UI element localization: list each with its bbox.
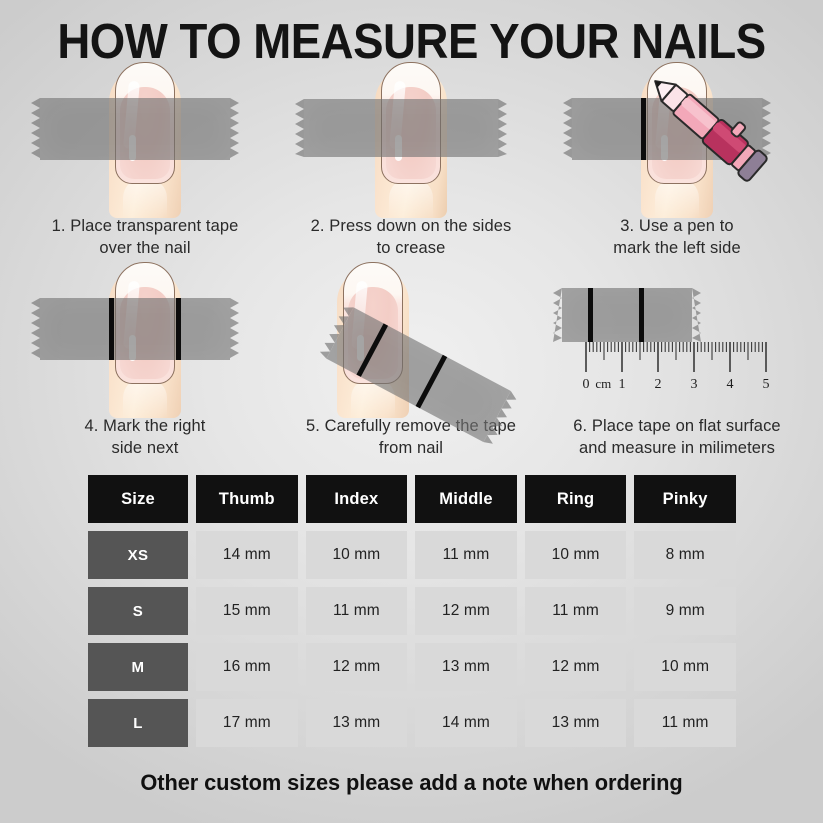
table-cell: 13 mm (525, 699, 627, 747)
step-2-illustration (274, 68, 548, 216)
table-cell: 11 mm (415, 531, 517, 579)
finger-crease (123, 378, 167, 418)
step-2-caption-line1: 2. Press down on the sides (274, 216, 548, 238)
step-6-illustration: 012345cm (540, 268, 814, 416)
tape-zigzag-right (230, 98, 239, 160)
step-3: 3. Use a pen to mark the left side (540, 68, 814, 260)
tape-zigzag-left (31, 98, 40, 160)
step-5-illustration (274, 268, 548, 416)
table-cell: 8 mm (634, 531, 736, 579)
step-3-caption-line2: mark the left side (540, 238, 814, 260)
table-cell: 14 mm (196, 531, 298, 579)
finger-crease (389, 178, 433, 218)
step-2-caption-line2: to crease (274, 238, 548, 260)
step-6: 012345cm 6. Place tape on flat surface a… (540, 268, 814, 460)
size-label-s: S (88, 587, 188, 635)
table-cell: 9 mm (634, 587, 736, 635)
step-3-illustration (540, 68, 814, 216)
finger-crease (123, 178, 167, 218)
tape-strip-creased (304, 99, 498, 157)
table-row: M16 mm12 mm13 mm12 mm10 mm (88, 643, 736, 691)
size-label-m: M (88, 643, 188, 691)
tape-zigzag-left (295, 99, 304, 157)
step-4-caption-line1: 4. Mark the right (8, 416, 282, 438)
footer-note: Other custom sizes please add a note whe… (12, 770, 810, 796)
table-row: L17 mm13 mm14 mm13 mm11 mm (88, 699, 736, 747)
ruler-tick-3: 3 (691, 377, 698, 392)
table-cell: 11 mm (306, 587, 408, 635)
step-5: 5. Carefully remove the tape from nail (274, 268, 548, 460)
table-header-pinky: Pinky (634, 475, 736, 523)
pen-mark-left (109, 298, 114, 360)
step-4-caption: 4. Mark the right side next (8, 416, 282, 460)
table-cell: 13 mm (306, 699, 408, 747)
table-cell: 17 mm (196, 699, 298, 747)
table-header-thumb: Thumb (196, 475, 298, 523)
step-5-caption-line1: 5. Carefully remove the tape (274, 416, 548, 438)
table-cell: 10 mm (525, 531, 627, 579)
table-cell: 12 mm (525, 643, 627, 691)
table-cell: 15 mm (196, 587, 298, 635)
step-6-caption: 6. Place tape on flat surface and measur… (540, 416, 814, 460)
ruler-tick-2: 2 (655, 377, 662, 392)
step-1-illustration (8, 68, 282, 216)
table-row: S15 mm11 mm12 mm11 mm9 mm (88, 587, 736, 635)
table-cell: 10 mm (634, 643, 736, 691)
finger-crease (655, 178, 699, 218)
size-label-l: L (88, 699, 188, 747)
tape-strip (40, 298, 230, 360)
step-1-caption-line2: over the nail (8, 238, 282, 260)
ruler-tick-4: 4 (727, 377, 734, 392)
step-6-caption-line1: 6. Place tape on flat surface (540, 416, 814, 438)
size-table: SizeThumbIndexMiddleRingPinky XS14 mm10 … (88, 475, 736, 755)
ruler-icon: 012345cm (540, 268, 814, 418)
table-header-middle: Middle (415, 475, 517, 523)
ruler-tick-5: 5 (763, 377, 770, 392)
tape-strip (40, 98, 230, 160)
step-4: 4. Mark the right side next (8, 268, 282, 460)
step-1: 1. Place transparent tape over the nail (8, 68, 282, 260)
pen-mark-left (356, 323, 388, 377)
ruler-tick-1: 1 (619, 377, 626, 392)
step-4-illustration (8, 268, 282, 416)
tape-zigzag-right (230, 298, 239, 360)
step-6-caption-line2: and measure in milimeters (540, 438, 814, 460)
ruler-tick-0: 0 (583, 377, 590, 392)
table-row: XS14 mm10 mm11 mm10 mm8 mm (88, 531, 736, 579)
table-header-index: Index (306, 475, 408, 523)
step-5-caption-line2: from nail (274, 438, 548, 460)
tape-zigzag-left (563, 98, 572, 160)
table-header-ring: Ring (525, 475, 627, 523)
step-3-caption-line1: 3. Use a pen to (540, 216, 814, 238)
infographic-page: HOW TO MEASURE YOUR NAILS (0, 0, 823, 823)
table-cell: 14 mm (415, 699, 517, 747)
table-cell: 12 mm (306, 643, 408, 691)
size-label-xs: XS (88, 531, 188, 579)
step-4-caption-line2: side next (8, 438, 282, 460)
table-header-row: SizeThumbIndexMiddleRingPinky (88, 475, 736, 523)
step-1-caption: 1. Place transparent tape over the nail (8, 216, 282, 260)
step-2-caption: 2. Press down on the sides to crease (274, 216, 548, 260)
pen-mark-right (416, 355, 448, 409)
pen-mark-right (176, 298, 181, 360)
table-cell: 13 mm (415, 643, 517, 691)
tape-zigzag-right (498, 99, 507, 157)
table-header-size: Size (88, 475, 188, 523)
table-cell: 11 mm (525, 587, 627, 635)
step-1-caption-line1: 1. Place transparent tape (8, 216, 282, 238)
ruler-unit-label: cm (595, 376, 611, 391)
table-cell: 10 mm (306, 531, 408, 579)
table-cell: 16 mm (196, 643, 298, 691)
steps-grid: 1. Place transparent tape over the nail (0, 68, 823, 468)
table-cell: 11 mm (634, 699, 736, 747)
step-5-caption: 5. Carefully remove the tape from nail (274, 416, 548, 460)
step-2: 2. Press down on the sides to crease (274, 68, 548, 260)
table-cell: 12 mm (415, 587, 517, 635)
tape-zigzag-left (31, 298, 40, 360)
pen-icon (628, 72, 788, 182)
step-3-caption: 3. Use a pen to mark the left side (540, 216, 814, 260)
